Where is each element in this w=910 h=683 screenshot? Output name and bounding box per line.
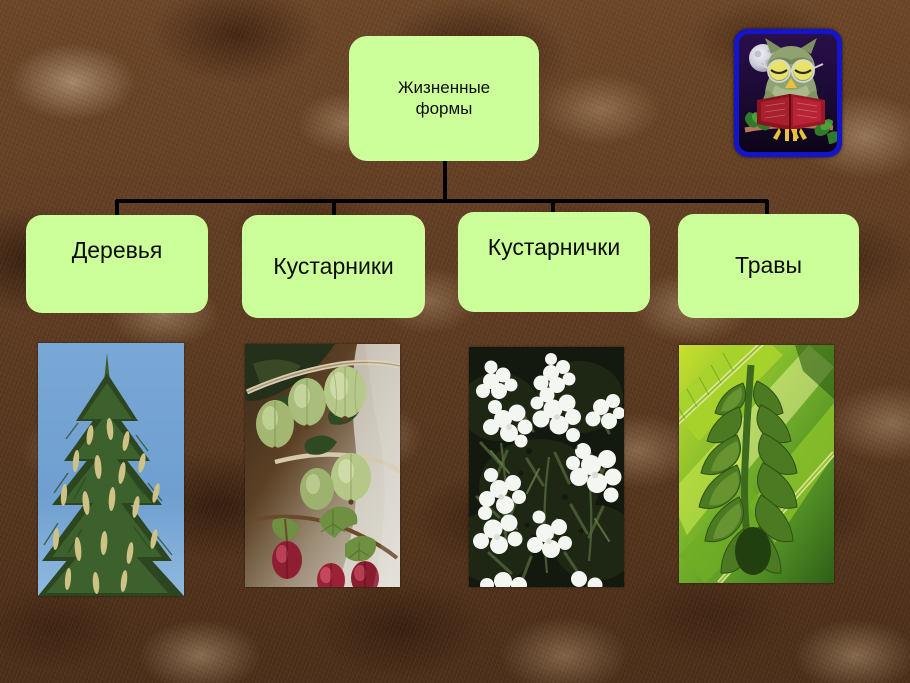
root-node-life-forms[interactable]: Жизненные формы bbox=[349, 36, 539, 161]
owl-reading-book-icon[interactable] bbox=[734, 29, 842, 157]
owl-illustration bbox=[739, 34, 837, 152]
photo-gooseberry-shrub bbox=[245, 344, 400, 587]
photo-banana-plant bbox=[679, 345, 834, 583]
node-subshrubs[interactable]: Кустарнички bbox=[458, 212, 650, 312]
node-herbs[interactable]: Травы bbox=[678, 214, 859, 318]
node-trees[interactable]: Деревья bbox=[26, 215, 208, 313]
slide-root: Жизненные формы Деревья Кустарники Куста… bbox=[0, 0, 910, 683]
photo-spruce-tree bbox=[38, 343, 184, 596]
node-shrubs[interactable]: Кустарники bbox=[242, 215, 425, 318]
photo-labrador-tea bbox=[469, 347, 624, 587]
